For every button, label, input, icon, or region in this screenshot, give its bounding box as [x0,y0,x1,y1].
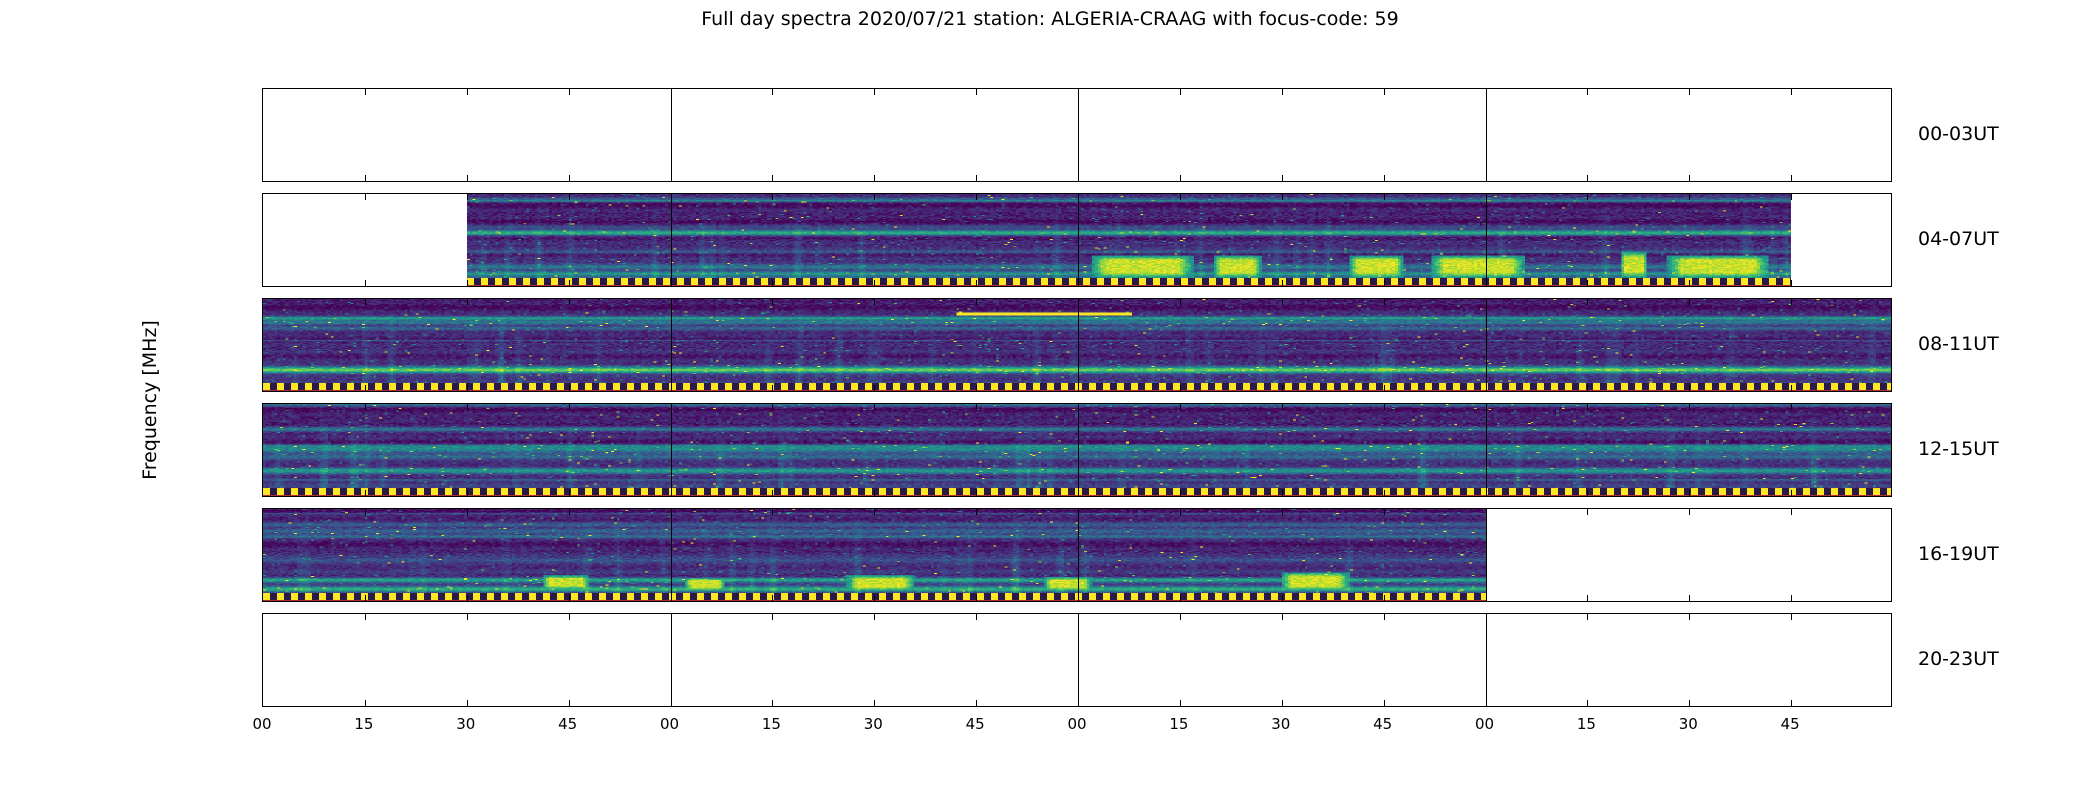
x-tick-mark-top [874,614,875,620]
x-tick-mark-top [569,194,570,200]
x-tick-mark-bottom [772,490,773,496]
spectrogram-row-20-23ut: 15010050 [262,613,1892,707]
hour-divider [1078,299,1079,391]
x-tick-mark-bottom [569,490,570,496]
x-tick-mark-bottom [1180,385,1181,391]
x-tick-mark [671,706,672,707]
spectrogram-image [263,509,1486,601]
x-tick-mark-bottom [1587,280,1588,286]
x-tick-mark-bottom [1587,175,1588,181]
hour-divider [1486,614,1487,706]
hour-divider [1486,89,1487,181]
x-tick-mark-top [874,404,875,410]
x-tick-mark-bottom [1180,595,1181,601]
hour-divider [671,509,672,601]
x-tick-mark-bottom [1384,490,1385,496]
row-time-label-20-23ut: 20-23UT [1918,648,1999,670]
y-tick-mark [262,482,263,483]
x-tick-mark-top [772,404,773,410]
x-tick-mark-top [467,194,468,200]
x-tick-label: 00 [242,715,282,733]
hour-divider [1486,299,1487,391]
x-tick-mark-bottom [1180,175,1181,181]
hour-divider [1486,509,1487,601]
x-tick-mark [1587,706,1588,707]
x-tick-mark [1078,706,1079,707]
x-tick-mark-top [467,299,468,305]
y-tick-mark [262,343,263,344]
x-tick-mark-top [1689,614,1690,620]
hour-divider [1078,194,1079,286]
x-tick-label: 30 [1668,715,1708,733]
x-tick-mark-top [1180,89,1181,95]
x-tick-mark [467,706,468,707]
spectrogram-row-00-03ut: 15010050 [262,88,1892,182]
x-tick-mark-bottom [1282,490,1283,496]
x-tick-mark-top [772,194,773,200]
x-tick-label: 00 [1057,715,1097,733]
x-tick-label: 45 [1363,715,1403,733]
x-tick-mark-top [1180,614,1181,620]
x-tick-mark-top [1791,404,1792,410]
x-tick-mark-top [569,89,570,95]
x-tick-mark-top [1587,509,1588,515]
x-tick-mark-bottom [467,595,468,601]
calibration-strip [467,278,1791,286]
x-tick-mark-top [569,299,570,305]
x-tick-label: 00 [650,715,690,733]
x-tick-mark-top [772,299,773,305]
x-tick-mark-top [874,509,875,515]
x-tick-mark-top [1384,404,1385,410]
x-tick-mark-bottom [1384,280,1385,286]
x-tick-mark-top [1384,299,1385,305]
x-tick-mark-bottom [976,280,977,286]
x-tick-mark-bottom [365,175,366,181]
x-tick-mark-top [365,614,366,620]
x-tick-mark-top [874,194,875,200]
x-tick-mark [569,706,570,707]
x-tick-mark-bottom [365,595,366,601]
x-tick-mark-bottom [772,595,773,601]
y-tick-mark [262,377,263,378]
x-tick-mark-top [569,404,570,410]
x-tick-mark-top [874,89,875,95]
x-tick-mark-bottom [1282,280,1283,286]
y-tick-mark [262,658,263,659]
x-tick-mark-top [569,509,570,515]
x-tick-mark-top [976,299,977,305]
x-tick-mark-top [976,509,977,515]
x-tick-label: 45 [548,715,588,733]
x-tick-mark-bottom [365,280,366,286]
x-tick-mark-top [569,614,570,620]
x-tick-mark-top [365,194,366,200]
x-tick-mark [772,706,773,707]
x-tick-mark-top [1384,89,1385,95]
x-tick-mark-top [1282,404,1283,410]
x-tick-mark-bottom [1689,175,1690,181]
x-tick-mark [874,706,875,707]
y-tick-mark [262,553,263,554]
row-time-label-00-03ut: 00-03UT [1918,123,1999,145]
x-tick-mark-top [976,89,977,95]
x-tick-mark-top [1791,89,1792,95]
x-tick-mark [976,706,977,707]
x-tick-mark [1689,706,1690,707]
x-tick-mark-top [1180,509,1181,515]
x-tick-mark-top [1689,194,1690,200]
x-tick-mark-bottom [1689,280,1690,286]
x-tick-mark-top [1180,299,1181,305]
x-tick-label: 15 [344,715,384,733]
hour-divider [1486,404,1487,496]
x-tick-mark-top [1587,299,1588,305]
hour-divider [671,299,672,391]
x-tick-mark-bottom [467,280,468,286]
x-tick-mark-bottom [1689,385,1690,391]
x-tick-mark-bottom [1587,385,1588,391]
page-title: Full day spectra 2020/07/21 station: ALG… [0,8,2100,30]
x-tick-mark-top [467,89,468,95]
x-tick-mark-top [365,89,366,95]
y-tick-mark [262,99,263,100]
x-tick-mark-top [1384,509,1385,515]
x-tick-mark-top [772,614,773,620]
hour-divider [671,614,672,706]
x-tick-mark-top [1791,509,1792,515]
x-tick-mark-top [1689,404,1690,410]
x-tick-mark-bottom [874,175,875,181]
x-tick-mark-bottom [569,175,570,181]
x-tick-mark-top [976,614,977,620]
x-tick-mark-bottom [874,595,875,601]
x-tick-mark-top [1282,89,1283,95]
x-tick-mark-top [976,404,977,410]
x-tick-label: 45 [1770,715,1810,733]
x-tick-mark-top [1384,194,1385,200]
x-tick-mark-top [1587,404,1588,410]
x-tick-mark-top [1689,299,1690,305]
x-tick-mark-bottom [976,490,977,496]
x-tick-label: 30 [1261,715,1301,733]
x-tick-mark-top [467,509,468,515]
y-tick-mark [262,624,263,625]
spectrogram-row-12-15ut: 15010050 [262,403,1892,497]
x-tick-mark [1282,706,1283,707]
x-tick-label: 30 [853,715,893,733]
spectrogram-row-16-19ut: 15010050 [262,508,1892,602]
x-tick-mark [365,706,366,707]
hour-divider [671,194,672,286]
x-tick-mark-top [772,89,773,95]
hour-divider [671,89,672,181]
spectrogram-row-04-07ut: 15010050 [262,193,1892,287]
row-time-label-08-11ut: 08-11UT [1918,333,1999,355]
hour-divider [1078,89,1079,181]
x-tick-mark-bottom [467,490,468,496]
x-tick-mark-bottom [569,385,570,391]
x-tick-mark-top [1587,194,1588,200]
plot-area: 1501005015010050150100501501005015010050… [262,88,1892,708]
x-tick-mark-top [1689,89,1690,95]
x-tick-mark-top [365,404,366,410]
hour-divider [1078,404,1079,496]
y-tick-mark [262,238,263,239]
y-tick-mark [262,587,263,588]
x-tick-mark-bottom [569,595,570,601]
x-tick-label: 15 [1159,715,1199,733]
x-tick-mark [1486,706,1487,707]
hour-divider [1078,614,1079,706]
x-tick-mark-bottom [772,280,773,286]
x-tick-mark-top [1180,404,1181,410]
y-tick-mark [262,309,263,310]
y-tick-mark [262,204,263,205]
x-tick-mark-bottom [1791,595,1792,601]
x-tick-mark-bottom [976,385,977,391]
x-tick-mark-top [874,299,875,305]
x-tick-mark-top [1791,614,1792,620]
x-tick-mark-bottom [976,595,977,601]
x-tick-mark-top [1282,299,1283,305]
x-tick-mark [263,706,264,707]
x-tick-mark-bottom [1180,280,1181,286]
x-tick-mark [1791,706,1792,707]
x-tick-mark-top [467,404,468,410]
x-tick-mark-top [365,299,366,305]
row-time-label-12-15ut: 12-15UT [1918,438,1999,460]
x-tick-mark-bottom [874,280,875,286]
x-tick-mark-bottom [1282,175,1283,181]
x-tick-mark-bottom [569,280,570,286]
x-tick-mark-bottom [1180,490,1181,496]
x-tick-mark-top [1791,194,1792,200]
y-tick-mark [262,692,263,693]
y-tick-mark [262,519,263,520]
x-tick-mark-bottom [365,385,366,391]
x-tick-mark-top [976,194,977,200]
x-tick-mark-bottom [1791,175,1792,181]
hour-divider [671,404,672,496]
x-tick-mark-top [1282,509,1283,515]
y-tick-mark [262,167,263,168]
spectrogram-row-08-11ut: 15010050 [262,298,1892,392]
y-tick-mark [262,133,263,134]
x-tick-mark-bottom [1587,490,1588,496]
x-tick-mark-bottom [874,490,875,496]
x-tick-mark-top [1791,299,1792,305]
x-tick-mark-bottom [874,385,875,391]
x-tick-mark-bottom [1587,595,1588,601]
x-tick-mark-bottom [1384,385,1385,391]
x-tick-mark [1180,706,1181,707]
x-tick-mark-bottom [467,385,468,391]
x-tick-mark-top [467,614,468,620]
x-tick-label: 45 [955,715,995,733]
x-tick-mark-bottom [1282,385,1283,391]
x-tick-mark-top [1180,194,1181,200]
x-tick-mark-bottom [1384,595,1385,601]
x-tick-mark-bottom [1689,490,1690,496]
x-tick-mark-bottom [1282,595,1283,601]
x-tick-mark-bottom [976,175,977,181]
y-tick-mark [262,448,263,449]
x-tick-mark-bottom [1791,280,1792,286]
x-tick-mark-top [1282,614,1283,620]
x-tick-label: 15 [1566,715,1606,733]
x-tick-mark-bottom [1384,175,1385,181]
x-tick-label: 00 [1465,715,1505,733]
x-tick-mark-top [1282,194,1283,200]
spectrogram-figure: Full day spectra 2020/07/21 station: ALG… [0,0,2100,800]
x-tick-mark-top [1587,89,1588,95]
x-tick-mark-top [1587,614,1588,620]
y-axis-label: Frequency [MHz] [139,320,161,480]
hour-divider [1078,509,1079,601]
spectrogram-image [467,194,1791,286]
x-tick-label: 15 [751,715,791,733]
x-tick-mark-bottom [1791,490,1792,496]
x-tick-mark-top [365,509,366,515]
x-tick-mark-bottom [772,385,773,391]
row-time-label-04-07ut: 04-07UT [1918,228,1999,250]
x-tick-mark-bottom [467,175,468,181]
row-time-label-16-19ut: 16-19UT [1918,543,1999,565]
x-tick-mark-top [1689,509,1690,515]
x-tick-mark-bottom [365,490,366,496]
x-tick-mark-bottom [772,175,773,181]
x-tick-mark-top [1384,614,1385,620]
x-tick-mark-bottom [1689,595,1690,601]
x-tick-mark [1384,706,1385,707]
x-tick-mark-top [772,509,773,515]
hour-divider [1486,194,1487,286]
y-tick-mark [262,414,263,415]
x-tick-label: 30 [446,715,486,733]
y-tick-mark [262,272,263,273]
x-tick-mark-bottom [1791,385,1792,391]
